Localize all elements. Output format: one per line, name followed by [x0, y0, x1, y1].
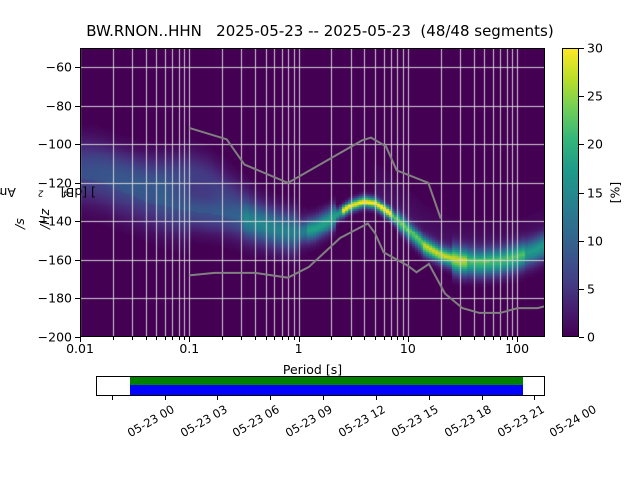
timeline-tick-label: 05-23 18: [442, 402, 494, 440]
colorbar-tick: [579, 144, 584, 145]
x-tick: [441, 337, 442, 340]
colorbar: [562, 48, 579, 337]
x-tick: [179, 337, 180, 340]
y-tick-label: −160: [38, 252, 72, 267]
colorbar-tick-label: 20: [587, 137, 603, 152]
timeline-tick-label: 05-23 09: [283, 402, 335, 440]
x-tick: [156, 337, 157, 340]
x-tick: [274, 337, 275, 340]
timeline-tick-label: 05-23 00: [125, 402, 177, 440]
noise-model-nhnm: [189, 128, 440, 219]
x-tick: [146, 337, 147, 340]
y-tick-label: −60: [46, 60, 72, 75]
x-tick: [222, 337, 223, 340]
x-tick: [484, 337, 485, 340]
y-tick: [75, 337, 80, 338]
x-tick: [493, 337, 494, 340]
y-tick: [75, 183, 80, 184]
colorbar-tick: [579, 48, 584, 49]
y-axis-title: Amplitude [m2/s4/Hz] [dB]: [10, 48, 28, 337]
x-tick: [165, 337, 166, 340]
x-axis-title: Period [s]: [80, 362, 545, 377]
x-tick: [241, 337, 242, 340]
colorbar-tick: [579, 289, 584, 290]
coverage-band-green: [130, 377, 523, 385]
ppsd-heatmap-axes: [80, 48, 545, 337]
x-tick-label: 100: [505, 341, 529, 356]
timeline-tick-label: 05-23 03: [178, 402, 230, 440]
timeline-tick-label: 05-23 06: [230, 402, 282, 440]
colorbar-tick-label: 10: [587, 233, 603, 248]
noise-model-nlnm: [189, 224, 545, 313]
x-tick: [512, 337, 513, 340]
x-tick: [266, 337, 267, 340]
x-tick: [113, 337, 114, 340]
colorbar-tick-label: 15: [587, 185, 603, 200]
x-tick: [397, 337, 398, 340]
timeline-tick: [429, 396, 430, 400]
colorbar-tick: [579, 96, 584, 97]
x-tick: [294, 337, 295, 340]
x-tick: [132, 337, 133, 340]
x-tick: [500, 337, 501, 340]
x-tick: [460, 337, 461, 340]
y-tick-label: −140: [38, 214, 72, 229]
colorbar-tick-label: 30: [587, 41, 603, 56]
timeline-tick-label: 05-23 21: [495, 402, 547, 440]
timeline-tick: [482, 396, 483, 400]
noise-model-overlay: [80, 48, 545, 337]
x-tick: [184, 337, 185, 340]
timeline-tick: [376, 396, 377, 400]
coverage-timeline: [96, 376, 545, 396]
y-tick-label: −120: [38, 175, 72, 190]
y-tick-label: −180: [38, 291, 72, 306]
timeline-tick: [165, 396, 166, 400]
y-tick-label: −80: [46, 98, 72, 113]
timeline-tick: [270, 396, 271, 400]
colorbar-title: [%]: [606, 48, 624, 337]
y-tick: [75, 260, 80, 261]
x-tick: [172, 337, 173, 340]
x-tick: [282, 337, 283, 340]
x-tick-label: 0.1: [179, 341, 199, 356]
colorbar-tick: [579, 337, 584, 338]
x-tick: [391, 337, 392, 340]
timeline-tick: [217, 396, 218, 400]
timeline-tick-label: 05-23 15: [389, 402, 441, 440]
x-tick: [403, 337, 404, 340]
x-tick-label: 10: [400, 341, 416, 356]
x-tick: [384, 337, 385, 340]
y-tick-label: −200: [38, 330, 72, 345]
x-tick-label: 1: [295, 341, 303, 356]
timeline-tick: [323, 396, 324, 400]
y-tick-label: −100: [38, 137, 72, 152]
y-tick: [75, 144, 80, 145]
x-tick: [375, 337, 376, 340]
y-tick: [75, 221, 80, 222]
x-tick: [288, 337, 289, 340]
x-tick: [351, 337, 352, 340]
colorbar-tick-label: 0: [587, 330, 595, 345]
timeline-tick-label: 05-24 00: [547, 402, 599, 440]
colorbar-tick: [579, 241, 584, 242]
page-title: BW.RNON..HHN 2025-05-23 -- 2025-05-23 (4…: [0, 22, 640, 40]
y-tick: [75, 298, 80, 299]
x-tick: [331, 337, 332, 340]
timeline-tick-label: 05-23 12: [336, 402, 388, 440]
coverage-band-blue: [130, 385, 523, 395]
colorbar-tick: [579, 193, 584, 194]
y-tick: [75, 106, 80, 107]
x-tick: [474, 337, 475, 340]
y-tick: [75, 67, 80, 68]
colorbar-tick-label: 5: [587, 281, 595, 296]
colorbar-tick-label: 25: [587, 89, 603, 104]
x-tick: [255, 337, 256, 340]
x-tick: [507, 337, 508, 340]
x-tick: [364, 337, 365, 340]
timeline-tick: [112, 396, 113, 400]
timeline-tick: [534, 396, 535, 400]
